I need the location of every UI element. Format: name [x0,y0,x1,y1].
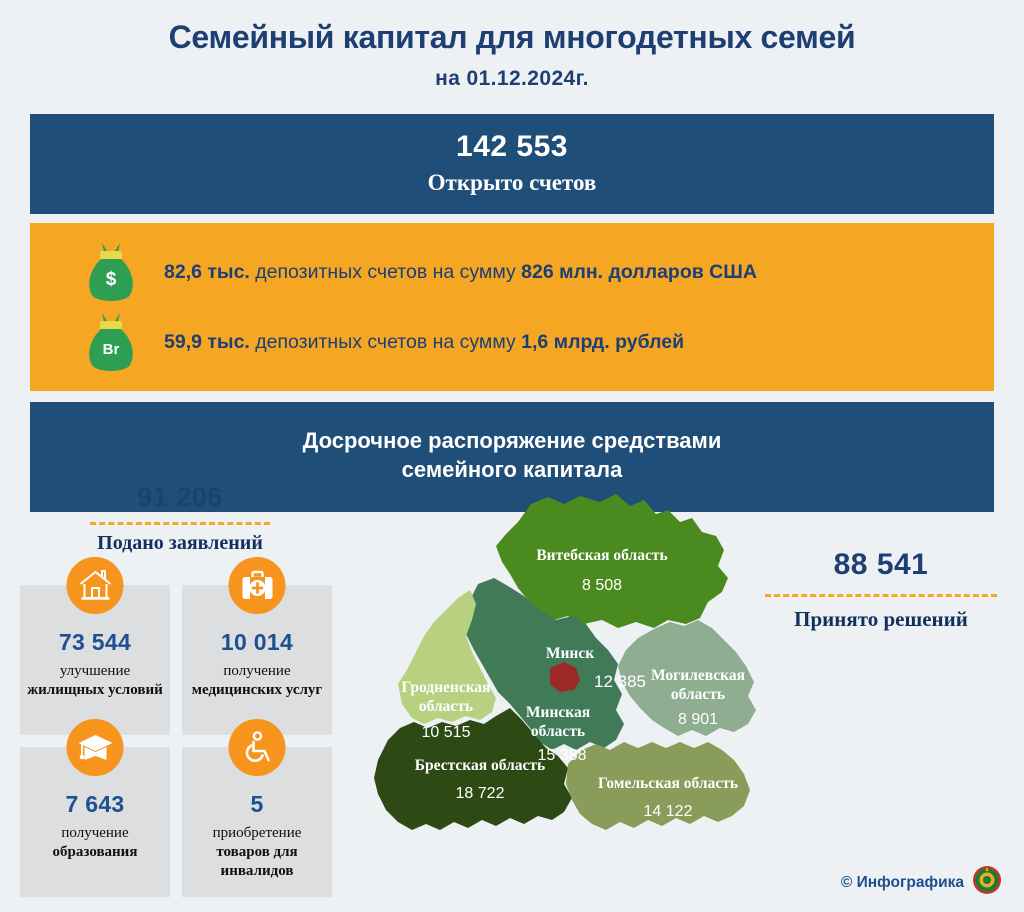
deposit-byn-count: 59,9 тыс. [164,331,250,353]
stat-desc-normal: получение [223,663,290,679]
accounts-caption: Открыто счетов [30,170,994,196]
deposit-byn-text: 59,9 тыс. депозитных счетов на сумму 1,6… [164,331,684,354]
stat-value: 10 014 [182,629,332,656]
stat-desc: приобретение товаров для инвалидов [182,824,332,880]
deposit-usd-text: 82,6 тыс. депозитных счетов на сумму 826… [164,261,757,284]
stat-desc-bold: образования [53,844,138,860]
map-label-minsk-city: Минск [546,645,594,662]
deposit-row: $ 82,6 тыс. депозитных счетов на сумму 8… [30,237,994,307]
decisions-label: Принято решений [756,607,1006,632]
stat-desc-bold: товаров для инвалидов [216,844,297,879]
map-label-minsk-oblast-line1: Минская [526,704,590,721]
stat-desc-normal: улучшение [60,663,130,679]
applications-divider [90,522,270,525]
map-label-mogilev-line1: Могилевская [651,667,745,684]
applications-header: 91 206 Подано заявлений [20,482,340,555]
svg-text:$: $ [106,269,117,290]
page-title: Семейный капитал для многодетных семей [0,18,1024,56]
map-label-vitebsk: Витебская область [536,547,667,564]
house-icon [67,557,124,614]
money-bag-usd-icon: $ [72,239,150,305]
map-value-mogilev: 8 901 [678,711,718,728]
applications-total: 91 206 [20,482,340,513]
map-label-grodno-line1: Гродненская [401,679,490,696]
deposit-usd-middle: депозитных счетов на сумму [250,261,521,283]
applications-card-grid: 73 544 улучшение жилищных условий 10 014… [20,585,340,897]
early-disposal-line1: Досрочное распоряжение средствами [30,427,994,456]
applications-label: Подано заявлений [20,532,340,555]
belarus-map: Витебская область 8 508 Минск 12 385 Мин… [368,492,798,892]
map-label-brest: Брестская область [415,757,545,774]
early-disposal-line2: семейного капитала [30,456,994,485]
map-value-vitebsk: 8 508 [582,577,622,594]
map-value-gomel: 14 122 [644,803,693,820]
accounts-banner: 142 553 Открыто счетов [30,114,994,214]
decisions-block: 88 541 Принято решений [756,548,1006,632]
map-label-gomel: Гомельская область [598,775,738,792]
deposit-byn-amount: 1,6 млрд. рублей [521,331,684,353]
stat-desc: получение медицинских услуг [182,662,332,700]
graduation-cap-icon [67,719,124,776]
page-header: Семейный капитал для многодетных семей н… [0,0,1024,91]
stat-desc: улучшение жилищных условий [20,662,170,700]
belarus-emblem-icon [972,865,1002,900]
map-label-mogilev-line2: область [671,686,725,703]
stat-card-housing[interactable]: 73 544 улучшение жилищных условий [20,585,170,735]
stat-desc-normal: получение [61,825,128,841]
map-value-grodno: 10 515 [422,724,471,741]
deposits-band: $ 82,6 тыс. депозитных счетов на сумму 8… [30,223,994,391]
footer: © Инфографика [841,865,1002,900]
map-label-minsk-oblast-line2: область [531,723,585,740]
money-bag-byn-icon: Br [72,309,150,375]
stat-value: 5 [182,791,332,818]
applications-block: 91 206 Подано заявлений 73 544 улучшен [20,482,340,897]
stat-card-medical[interactable]: 10 014 получение медицинских услуг [182,585,332,735]
deposit-row: Br 59,9 тыс. депозитных счетов на сумму … [30,307,994,377]
map-value-minsk-city: 12 385 [594,672,646,691]
stat-value: 73 544 [20,629,170,656]
copyright-text: © Инфографика [841,874,964,892]
stat-desc-normal: приобретение [213,825,302,841]
stat-desc: получение образования [20,824,170,862]
map-value-brest: 18 722 [456,785,505,802]
accounts-total: 142 553 [30,130,994,164]
stat-value: 7 643 [20,791,170,818]
deposit-usd-amount: 826 млн. долларов США [521,261,757,283]
stat-desc-bold: медицинских услуг [192,682,322,698]
wheelchair-icon [229,719,286,776]
medical-briefcase-icon [229,557,286,614]
decisions-total: 88 541 [756,548,1006,582]
stat-card-education[interactable]: 7 643 получение образования [20,747,170,897]
stat-desc-bold: жилищных условий [27,682,162,698]
deposit-usd-count: 82,6 тыс. [164,261,250,283]
svg-text:Br: Br [103,341,120,358]
map-label-grodno-line2: область [419,698,473,715]
deposit-byn-middle: депозитных счетов на сумму [250,331,521,353]
page-subtitle: на 01.12.2024г. [0,67,1024,91]
decisions-divider [765,594,997,597]
stat-card-disability-goods[interactable]: 5 приобретение товаров для инвалидов [182,747,332,897]
